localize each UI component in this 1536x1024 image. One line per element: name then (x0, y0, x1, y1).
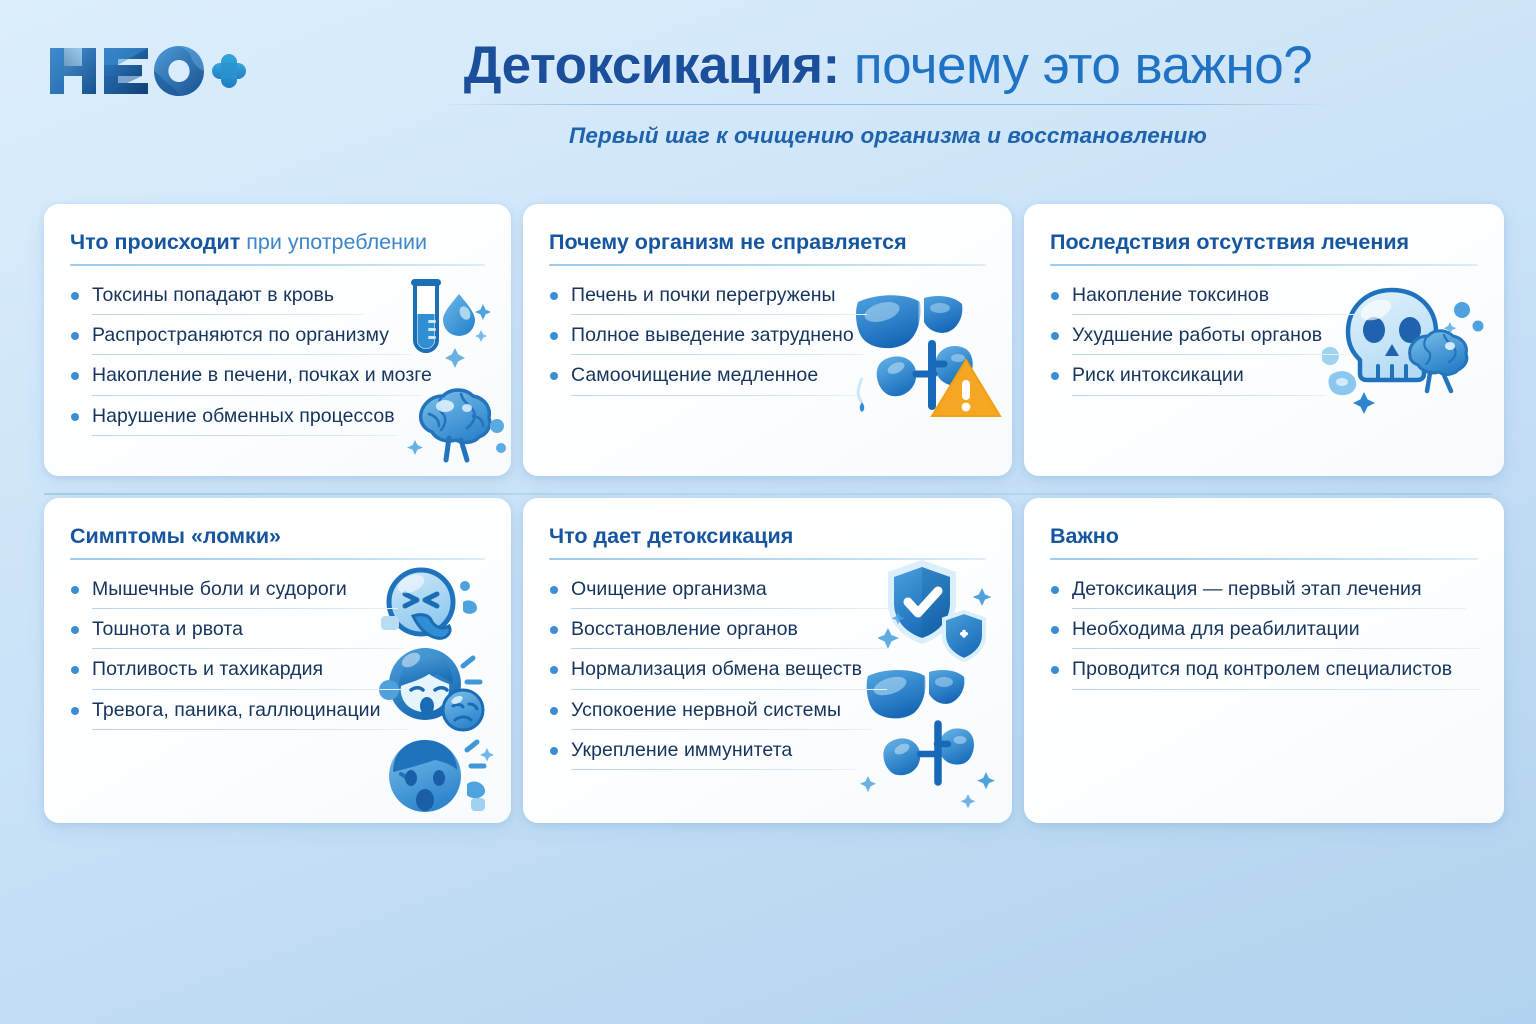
sparkle-icon (860, 772, 995, 808)
card-title-bold: Последствия отсутствия лечения (1050, 230, 1409, 254)
card-bullet-list: Мышечные боли и судороги Тошнота и рвота… (70, 576, 485, 730)
list-item: Тошнота и рвота (70, 616, 485, 649)
list-item: Печень и почки перегружены (549, 282, 986, 315)
list-item-underline (1072, 608, 1466, 609)
list-item: Полное выведение затруднено (549, 322, 986, 355)
list-item-label: Самоочищение медленное (571, 362, 818, 388)
card-title-bold: Почему организм не справляется (549, 230, 907, 254)
bullet-dot (550, 586, 558, 594)
card-bullet-list: Печень и почки перегружены Полное выведе… (549, 282, 986, 396)
list-item-label: Тревога, паника, галлюцинации (92, 697, 381, 723)
list-item-underline (92, 435, 398, 436)
card-title: Почему организм не справляется (549, 230, 986, 255)
list-item-underline (92, 608, 398, 609)
card-title-underline (549, 558, 986, 560)
list-item-underline (571, 354, 865, 355)
card-detox-benefits: Что дает детоксикация (523, 498, 1012, 823)
bullet-dot (1051, 372, 1059, 380)
card-why-body-fails: Почему организм не справляется (523, 204, 1012, 476)
list-item: Потливость и тахикардия (70, 656, 485, 689)
bullet-dot (550, 747, 558, 755)
card-title-underline (70, 558, 485, 560)
card-title: Последствия отсутствия лечения (1050, 230, 1478, 255)
card-title-underline (549, 264, 986, 266)
list-item-underline (571, 689, 887, 690)
card-title-bold: Что происходит (70, 230, 240, 254)
title-divider (438, 104, 1338, 105)
infographic-page: НЕО+ Детоксикация: почему это важно? Пер… (0, 0, 1536, 1024)
page-title: Детоксикация: почему это важно? (280, 38, 1496, 94)
card-consequences: Последствия отсутствия лечения (1024, 204, 1504, 476)
bullet-dot (71, 707, 79, 715)
list-item-label: Успокоение нервной системы (571, 697, 841, 723)
list-item: Накопление в печени, почках и мозге (70, 362, 485, 395)
bullet-dot (71, 666, 79, 674)
list-item: Необходима для реабилитации (1050, 616, 1478, 649)
list-item: Тревога, паника, галлюцинации (70, 697, 485, 730)
list-item-underline (571, 395, 855, 396)
bullet-dot (1051, 666, 1059, 674)
list-item-label: Накопление токсинов (1072, 282, 1269, 308)
bullet-dot (550, 372, 558, 380)
card-bullet-list: Накопление токсинов Ухудшение работы орг… (1050, 282, 1478, 396)
card-what-happens: Что происходит при употреблении (44, 204, 511, 476)
card-bullet-list: Очищение организма Восстановление органо… (549, 576, 986, 771)
list-item-label: Детоксикация — первый этап лечения (1072, 576, 1422, 602)
card-bullet-list: Токсины попадают в кровь Распространяютс… (70, 282, 485, 436)
title-block: Детоксикация: почему это важно? Первый ш… (280, 38, 1496, 149)
cards-grid: Что происходит при употреблении (44, 204, 1492, 823)
list-item-underline (92, 395, 422, 396)
list-item-underline (571, 314, 867, 315)
list-item: Риск интоксикации (1050, 362, 1478, 395)
list-item-label: Распространяются по организму (92, 322, 389, 348)
card-withdrawal-symptoms: Симптомы «ломки» (44, 498, 511, 823)
list-item: Укрепление иммунитета (549, 737, 986, 770)
card-title-bold: Симптомы «ломки» (70, 524, 281, 548)
bullet-dot (550, 332, 558, 340)
bullet-dot (1051, 332, 1059, 340)
grid-row-spacer (44, 476, 1504, 498)
list-item-underline (92, 314, 364, 315)
card-title-underline (70, 264, 485, 266)
list-item: Распространяются по организму (70, 322, 485, 355)
list-item: Накопление токсинов (1050, 282, 1478, 315)
list-item-label: Потливость и тахикардия (92, 656, 323, 682)
bullet-dot (550, 626, 558, 634)
list-item: Успокоение нервной системы (549, 697, 986, 730)
card-bullet-list: Детоксикация — первый этап лечения Необх… (1050, 576, 1478, 690)
card-title: Симптомы «ломки» (70, 524, 485, 549)
card-title-underline (1050, 264, 1478, 266)
bullet-dot (71, 292, 79, 300)
list-item-label: Очищение организма (571, 576, 767, 602)
list-item-label: Токсины попадают в кровь (92, 282, 334, 308)
list-item-underline (1072, 395, 1326, 396)
list-item-underline (92, 689, 406, 690)
bullet-dot (71, 413, 79, 421)
list-item-label: Восстановление органов (571, 616, 798, 642)
bullet-dot (1051, 586, 1059, 594)
page-header: НЕО+ Детоксикация: почему это важно? Пер… (0, 0, 1536, 190)
list-item: Ухудшение работы органов (1050, 322, 1478, 355)
list-item: Восстановление органов (549, 616, 986, 649)
page-subtitle: Первый шаг к очищению организма и восста… (280, 123, 1496, 149)
card-title: Важно (1050, 524, 1478, 549)
list-item: Детоксикация — первый этап лечения (1050, 576, 1478, 609)
list-item-label: Проводится под контролем специалистов (1072, 656, 1452, 682)
list-item-label: Нарушение обменных процессов (92, 403, 395, 429)
card-title: Что дает детоксикация (549, 524, 986, 549)
list-item-label: Тошнота и рвота (92, 616, 243, 642)
list-item-label: Риск интоксикации (1072, 362, 1244, 388)
list-item: Очищение организма (549, 576, 986, 609)
list-item-label: Укрепление иммунитета (571, 737, 792, 763)
list-item: Проводится под контролем специалистов (1050, 656, 1478, 689)
list-item: Токсины попадают в кровь (70, 282, 485, 315)
neo-plus-logo-icon (48, 42, 248, 100)
list-item-underline (1072, 314, 1356, 315)
list-item-label: Ухудшение работы органов (1072, 322, 1322, 348)
list-item-underline (571, 648, 887, 649)
list-item-underline (92, 354, 410, 355)
bullet-dot (1051, 626, 1059, 634)
shocked-face-icon (389, 740, 494, 812)
list-item-label: Печень и почки перегружены (571, 282, 836, 308)
list-item-label: Полное выведение затруднено (571, 322, 854, 348)
bullet-dot (550, 707, 558, 715)
card-title-underline (1050, 558, 1478, 560)
list-item-label: Мышечные боли и судороги (92, 576, 347, 602)
bullet-dot (71, 372, 79, 380)
card-important: Важно Детоксикация — первый этап лечения… (1024, 498, 1504, 823)
list-item: Мышечные боли и судороги (70, 576, 485, 609)
bullet-dot (71, 332, 79, 340)
list-item-label: Нормализация обмена веществ (571, 656, 862, 682)
list-item-underline (571, 769, 855, 770)
bullet-dot (71, 626, 79, 634)
card-title-bold: Что дает детоксикация (549, 524, 793, 548)
list-item: Нарушение обменных процессов (70, 403, 485, 436)
card-title: Что происходит при употреблении (70, 230, 485, 255)
list-item-label: Накопление в печени, почках и мозге (92, 362, 432, 388)
page-title-bold: Детоксикация: (464, 36, 840, 95)
list-item: Самоочищение медленное (549, 362, 986, 395)
list-item-label: Необходима для реабилитации (1072, 616, 1360, 642)
list-item-underline (1072, 354, 1344, 355)
list-item-underline (92, 729, 408, 730)
list-item-underline (571, 608, 889, 609)
list-item-underline (1072, 648, 1480, 649)
list-item-underline (571, 729, 871, 730)
bullet-dot (1051, 292, 1059, 300)
page-title-light: почему это важно? (840, 36, 1313, 95)
bullet-dot (550, 292, 558, 300)
card-title-bold: Важно (1050, 524, 1119, 548)
list-item: Нормализация обмена веществ (549, 656, 986, 689)
card-title-regular: при употреблении (240, 230, 427, 254)
bullet-dot (550, 666, 558, 674)
list-item-underline (92, 648, 404, 649)
brand-logo: НЕО+ (48, 42, 248, 100)
list-item-underline (1072, 689, 1480, 690)
bullet-dot (71, 586, 79, 594)
